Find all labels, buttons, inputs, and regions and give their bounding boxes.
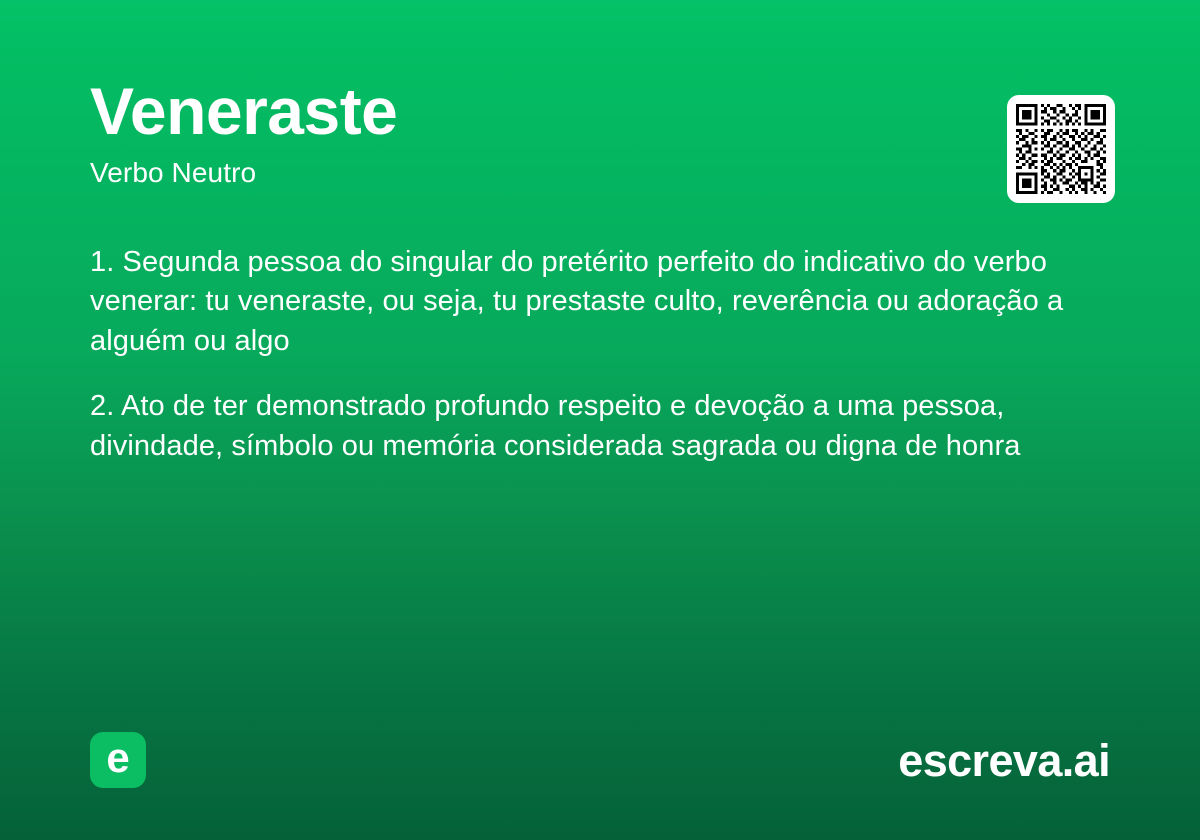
definition-list: 1. Segunda pessoa do singular do pretéri…: [90, 243, 1105, 466]
qr-code-icon[interactable]: [1007, 95, 1115, 203]
definition-item: 1. Segunda pessoa do singular do pretéri…: [90, 243, 1105, 361]
escreva-logo-icon[interactable]: e: [90, 732, 146, 788]
page-title: Veneraste: [90, 78, 1110, 144]
definition-card: Veneraste Verbo Neutro: [0, 0, 1200, 840]
card-header: Veneraste Verbo Neutro: [90, 78, 1110, 189]
logo-letter: e: [106, 737, 129, 779]
word-class-label: Verbo Neutro: [90, 158, 1110, 189]
card-footer: e escreva.ai: [90, 732, 1110, 788]
definition-item: 2. Ato de ter demonstrado profundo respe…: [90, 387, 1105, 466]
brand-wordmark: escreva.ai: [898, 738, 1110, 783]
